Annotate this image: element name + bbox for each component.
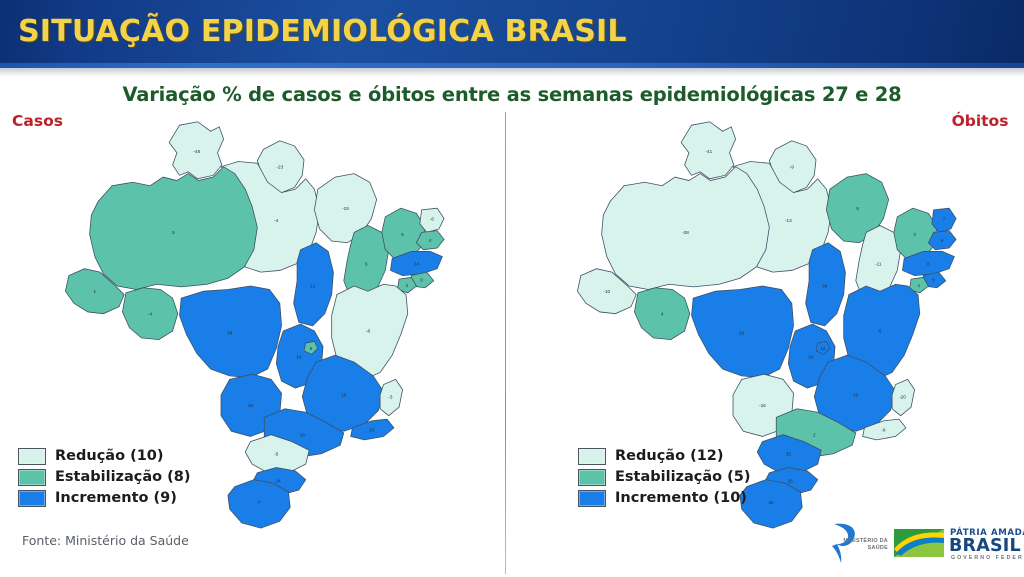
state-value-ap: -23	[276, 164, 283, 169]
state-value-ro: -4	[148, 311, 153, 316]
legend-swatch-estabilizacao	[578, 469, 606, 486]
state-am: Amazonas: 5%	[89, 167, 257, 290]
state-value-pe: 24	[413, 261, 419, 266]
panel-casos: Casos Roraima: -46%Amapá: -23%Pará: -4%A…	[0, 108, 505, 577]
state-value-ms: 16	[247, 403, 253, 408]
state-value-pi: -11	[875, 261, 882, 266]
state-value-al: 5	[932, 278, 935, 283]
state-value-go: 16	[296, 355, 302, 360]
legend-item-incremento: Incremento (9)	[18, 488, 191, 508]
state-value-pi: 6	[364, 261, 367, 266]
state-value-sp: 2	[813, 432, 816, 437]
state-value-rj: 18	[368, 427, 374, 432]
state-value-pb: 4	[428, 238, 431, 243]
legend-obitos: Redução (12) Estabilização (5) Increment…	[578, 446, 751, 509]
state-value-pr: 35	[786, 451, 792, 456]
legend-label-incremento: Incremento (10)	[615, 490, 747, 506]
ministry-logo-text: MINISTÉRIO DA SAÚDE	[830, 538, 888, 552]
legend-label-reducao: Redução (10)	[55, 448, 164, 464]
footer-logos: MINISTÉRIO DA SAÚDE PÁTRIA AMADA BRASIL …	[828, 522, 1018, 572]
legend-item-incremento: Incremento (10)	[578, 488, 751, 508]
state-value-to: 30	[822, 284, 828, 289]
state-value-rn: -6	[429, 216, 434, 221]
state-value-ce: 3	[913, 232, 916, 237]
state-value-pe: 6	[927, 261, 930, 266]
state-value-rs: 7	[257, 500, 260, 505]
legend-swatch-estabilizacao	[18, 469, 46, 486]
state-value-mt: 26	[739, 330, 745, 335]
state-value-al: 0	[420, 278, 423, 283]
header-shadow	[0, 68, 1024, 77]
legend-item-reducao: Redução (10)	[18, 446, 191, 466]
state-value-mg: 10	[341, 393, 347, 398]
state-value-go: 20	[808, 355, 814, 360]
brasil-flag-mark-icon	[894, 527, 944, 559]
legend-label-incremento: Incremento (9)	[55, 490, 177, 506]
state-value-sc: 24	[275, 478, 281, 483]
state-value-ac: -10	[603, 289, 610, 294]
state-value-to: 12	[310, 284, 316, 289]
state-value-rr: -46	[193, 149, 200, 154]
legend-label-reducao: Redução (12)	[615, 448, 724, 464]
state-am: Amazonas: -28%	[602, 167, 770, 290]
patria-amada-brasil-logo: PÁTRIA AMADA BRASIL GOVERNO FEDERAL	[894, 527, 1018, 565]
state-value-pa: -4	[274, 218, 279, 223]
source-note: Fonte: Ministério da Saúde	[22, 533, 189, 548]
ministry-of-health-logo: MINISTÉRIO DA SAÚDE	[828, 522, 890, 568]
state-value-rr: -41	[705, 149, 712, 154]
state-value-pr: -5	[274, 451, 279, 456]
state-value-rs: 42	[768, 500, 774, 505]
legend-item-estabilizacao: Estabilização (8)	[18, 467, 191, 487]
legend-item-reducao: Redução (12)	[578, 446, 751, 466]
header-bar: SITUAÇÃO EPIDEMIOLÓGICA BRASIL	[0, 0, 1024, 63]
panel-obitos: Óbitos Roraima: -41%Amapá: -9%Pará: -13%…	[506, 108, 1024, 577]
state-value-sc: 25	[787, 478, 793, 483]
state-value-mg: 22	[853, 393, 859, 398]
brand-line-2: BRASIL	[949, 536, 1021, 556]
state-value-se: 2	[405, 283, 408, 288]
state-value-ba: -8	[365, 329, 370, 334]
state-value-ba: 6	[879, 329, 882, 334]
state-value-rn: 7	[943, 216, 946, 221]
legend-swatch-incremento	[578, 490, 606, 507]
legend-label-estabilizacao: Estabilização (5)	[615, 469, 751, 485]
state-value-ce: 5	[401, 232, 404, 237]
state-value-ms: -16	[759, 403, 766, 408]
legend-label-estabilizacao: Estabilização (8)	[55, 469, 191, 485]
state-value-es: -20	[899, 394, 906, 399]
chart-subtitle: Variação % de casos e óbitos entre as se…	[0, 83, 1024, 106]
legend-swatch-reducao	[578, 448, 606, 465]
state-value-am: 5	[172, 230, 175, 235]
state-value-ap: -9	[790, 164, 795, 169]
ministry-line-1: MINISTÉRIO DA	[843, 538, 888, 544]
legend-item-estabilizacao: Estabilização (5)	[578, 467, 751, 487]
state-value-se: 1	[918, 283, 921, 288]
state-value-rj: -8	[881, 427, 886, 432]
state-value-pa: -13	[785, 218, 792, 223]
state-value-ro: 4	[661, 311, 664, 316]
ministry-line-2: SAÚDE	[868, 545, 888, 551]
state-value-df: 5	[309, 346, 312, 351]
state-value-df: 12	[820, 346, 826, 351]
state-value-es: -3	[388, 394, 393, 399]
page-title: SITUAÇÃO EPIDEMIOLÓGICA BRASIL	[18, 14, 627, 49]
state-value-ma: 8	[856, 206, 859, 211]
state-value-pb: 9	[941, 238, 944, 243]
state-value-sp: 18	[299, 432, 305, 437]
legend-casos: Redução (10) Estabilização (8) Increment…	[18, 446, 191, 509]
brand-line-3: GOVERNO FEDERAL	[951, 555, 1024, 561]
state-value-ma: -15	[342, 206, 349, 211]
state-value-am: -28	[682, 230, 689, 235]
state-value-ac: 1	[93, 289, 96, 294]
state-value-mt: 38	[227, 330, 233, 335]
legend-swatch-incremento	[18, 490, 46, 507]
legend-swatch-reducao	[18, 448, 46, 465]
